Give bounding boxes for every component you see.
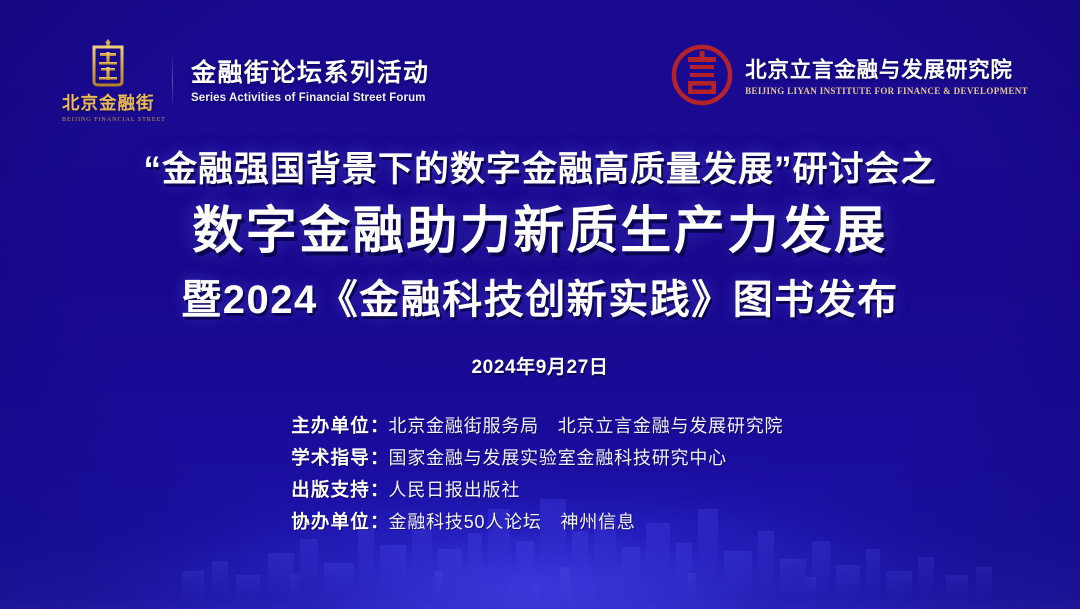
credit-row: 协办单位 ： 金融科技50人论坛 神州信息 (260, 508, 820, 534)
credit-value: 人民日报出版社 (389, 476, 820, 502)
credit-label: 出版支持 (260, 476, 370, 502)
credit-row: 出版支持 ： 人民日报出版社 (260, 476, 820, 502)
beijing-financial-street-gold-emblem-icon (85, 38, 131, 88)
financial-street-mark-en: BEIJING FINANCIAL STREET (62, 116, 154, 123)
credit-colon: ： (370, 476, 389, 502)
credit-label: 学术指导 (260, 444, 370, 470)
event-subtitle-line: “金融强国背景下的数字金融高质量发展”研讨会之 (0, 146, 1080, 193)
liyan-institute-title-cn: 北京立言金融与发展研究院 (745, 53, 1028, 84)
credit-value: 北京金融街服务局 北京立言金融与发展研究院 (389, 412, 820, 438)
financial-street-mark: 北京金融街 BEIJING FINANCIAL STREET (62, 38, 154, 123)
credit-row: 学术指导 ： 国家金融与发展实验室金融科技研究中心 (260, 444, 820, 470)
liyan-institute-logo: 北京立言金融与发展研究院 BEIJING LIYAN INSTITUTE FOR… (671, 44, 1028, 106)
poster-title-block: “金融强国背景下的数字金融高质量发展”研讨会之 数字金融助力新质生产力发展 暨2… (0, 146, 1080, 379)
credit-row: 主办单位 ： 北京金融街服务局 北京立言金融与发展研究院 (260, 412, 820, 438)
event-main-title: 数字金融助力新质生产力发展 (0, 199, 1080, 265)
event-date: 2024年9月27日 (0, 352, 1080, 379)
credit-colon: ： (370, 412, 389, 438)
forum-series-title-cn: 金融街论坛系列活动 (191, 53, 430, 89)
liyan-institute-title-en: BEIJING LIYAN INSTITUTE FOR FINANCE & DE… (745, 86, 1028, 96)
credit-value: 金融科技50人论坛 神州信息 (389, 508, 820, 534)
organizer-credits: 主办单位 ： 北京金融街服务局 北京立言金融与发展研究院 学术指导 ： 国家金融… (0, 412, 1080, 534)
credit-colon: ： (370, 444, 389, 470)
poster-header: 北京金融街 BEIJING FINANCIAL STREET 金融街论坛系列活动… (0, 0, 1080, 140)
credit-label: 主办单位 (260, 412, 370, 438)
financial-street-logo: 北京金融街 BEIJING FINANCIAL STREET 金融街论坛系列活动… (62, 38, 430, 123)
event-secondary-title: 暨2024《金融科技创新实践》图书发布 (0, 274, 1080, 326)
forum-series-title: 金融街论坛系列活动 Series Activities of Financial… (191, 53, 430, 108)
credit-label: 协办单位 (260, 508, 370, 534)
logo-divider (172, 53, 173, 109)
event-poster: 北京金融街 BEIJING FINANCIAL STREET 金融街论坛系列活动… (0, 0, 1080, 609)
liyan-round-red-seal-icon (671, 44, 733, 106)
liyan-institute-title: 北京立言金融与发展研究院 BEIJING LIYAN INSTITUTE FOR… (745, 53, 1028, 98)
financial-street-mark-cn: 北京金融街 (62, 90, 154, 115)
credit-value: 国家金融与发展实验室金融科技研究中心 (389, 444, 820, 470)
credit-colon: ： (370, 508, 389, 534)
forum-series-title-en: Series Activities of Financial Street Fo… (191, 92, 430, 104)
